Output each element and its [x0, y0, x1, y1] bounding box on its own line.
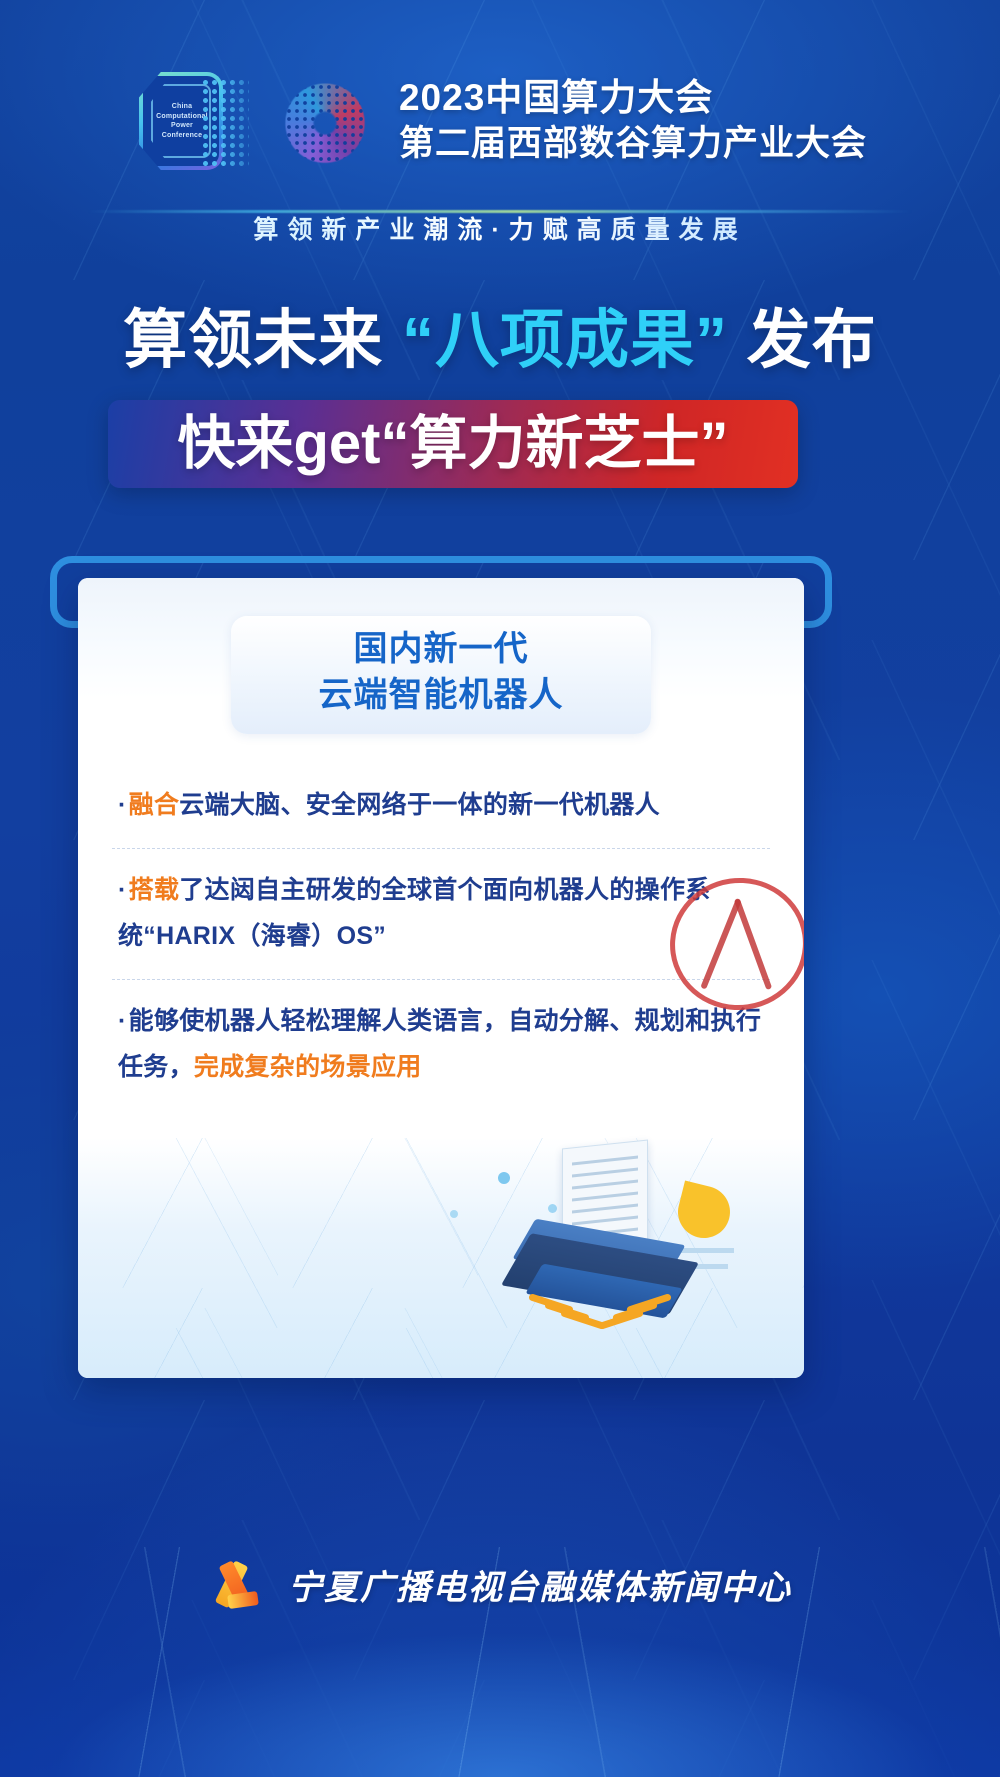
achievement-card: 国内新一代 云端智能机器人 融合云端大脑、安全网络于一体的新一代机器人 搭载了达… [78, 578, 804, 1378]
conference-hex-logo-icon: China Computational Power Conference [133, 66, 251, 176]
poster-footer: 宁夏广播电视台融媒体新闻中心 [0, 1447, 1000, 1777]
bullet-highlight-1: 融合 [129, 791, 180, 819]
bullet-item-3: 能够使机器人轻松理解人类语言，自动分解、规划和执行任务，完成复杂的场景应用 [112, 979, 770, 1110]
card-title-line2: 云端智能机器人 [231, 672, 651, 718]
slogan-bar: 算领新产业潮流·力赋高质量发展 [0, 196, 1000, 252]
card-bullet-list: 融合云端大脑、安全网络于一体的新一代机器人 搭载了达闼自主研发的全球首个面向机器… [78, 764, 804, 1110]
conference-header: China Computational Power Conference 202… [0, 56, 1000, 186]
conference-title-line2: 第二届西部数谷算力产业大会 [399, 121, 867, 167]
bullet-text-2: 了达闼自主研发的全球首个面向机器人的操作系统“HARIX（海睿）OS” [118, 876, 711, 950]
poster-root: China Computational Power Conference 202… [0, 0, 1000, 1777]
headline-line2: 快来get“算力新芝士” [177, 400, 728, 488]
footer-brand-text: 宁夏广播电视台融媒体新闻中心 [288, 1560, 792, 1609]
bullet-marker-1 [118, 791, 129, 819]
headline-suffix: 发布 [728, 304, 877, 376]
bullet-text-1: 云端大脑、安全网络于一体的新一代机器人 [179, 791, 660, 819]
bullet-marker-2 [118, 876, 129, 904]
broadcaster-logo-icon [208, 1557, 274, 1611]
server-illustration-icon [504, 1144, 734, 1344]
bullet-highlight-2: 搭载 [129, 876, 180, 904]
bullet-marker-3 [118, 1007, 129, 1035]
headline-line1: 算领未来 “八项成果” 发布 [0, 300, 1000, 380]
bullet-item-2: 搭载了达闼自主研发的全球首个面向机器人的操作系统“HARIX（海睿）OS” [112, 848, 770, 979]
conference-title-line1: 2023中国算力大会 [399, 75, 867, 121]
headline-prefix: 算领未来 [123, 304, 402, 376]
card-title-line1: 国内新一代 [231, 626, 651, 672]
bullet-item-1: 融合云端大脑、安全网络于一体的新一代机器人 [112, 764, 770, 848]
headline-highlight: “八项成果” [402, 304, 728, 376]
headline-pill: 快来get“算力新芝士” [108, 400, 798, 488]
footer-brand-lockup: 宁夏广播电视台融媒体新闻中心 [0, 1557, 1000, 1611]
bullet-highlight-3: 完成复杂的场景应用 [194, 1053, 422, 1081]
computing-power-fan-icon [269, 67, 381, 175]
card-title-badge: 国内新一代 云端智能机器人 [231, 616, 651, 734]
conference-title-block: 2023中国算力大会 第二届西部数谷算力产业大会 [399, 75, 867, 167]
slogan-text: 算领新产业潮流·力赋高质量发展 [0, 210, 1000, 250]
